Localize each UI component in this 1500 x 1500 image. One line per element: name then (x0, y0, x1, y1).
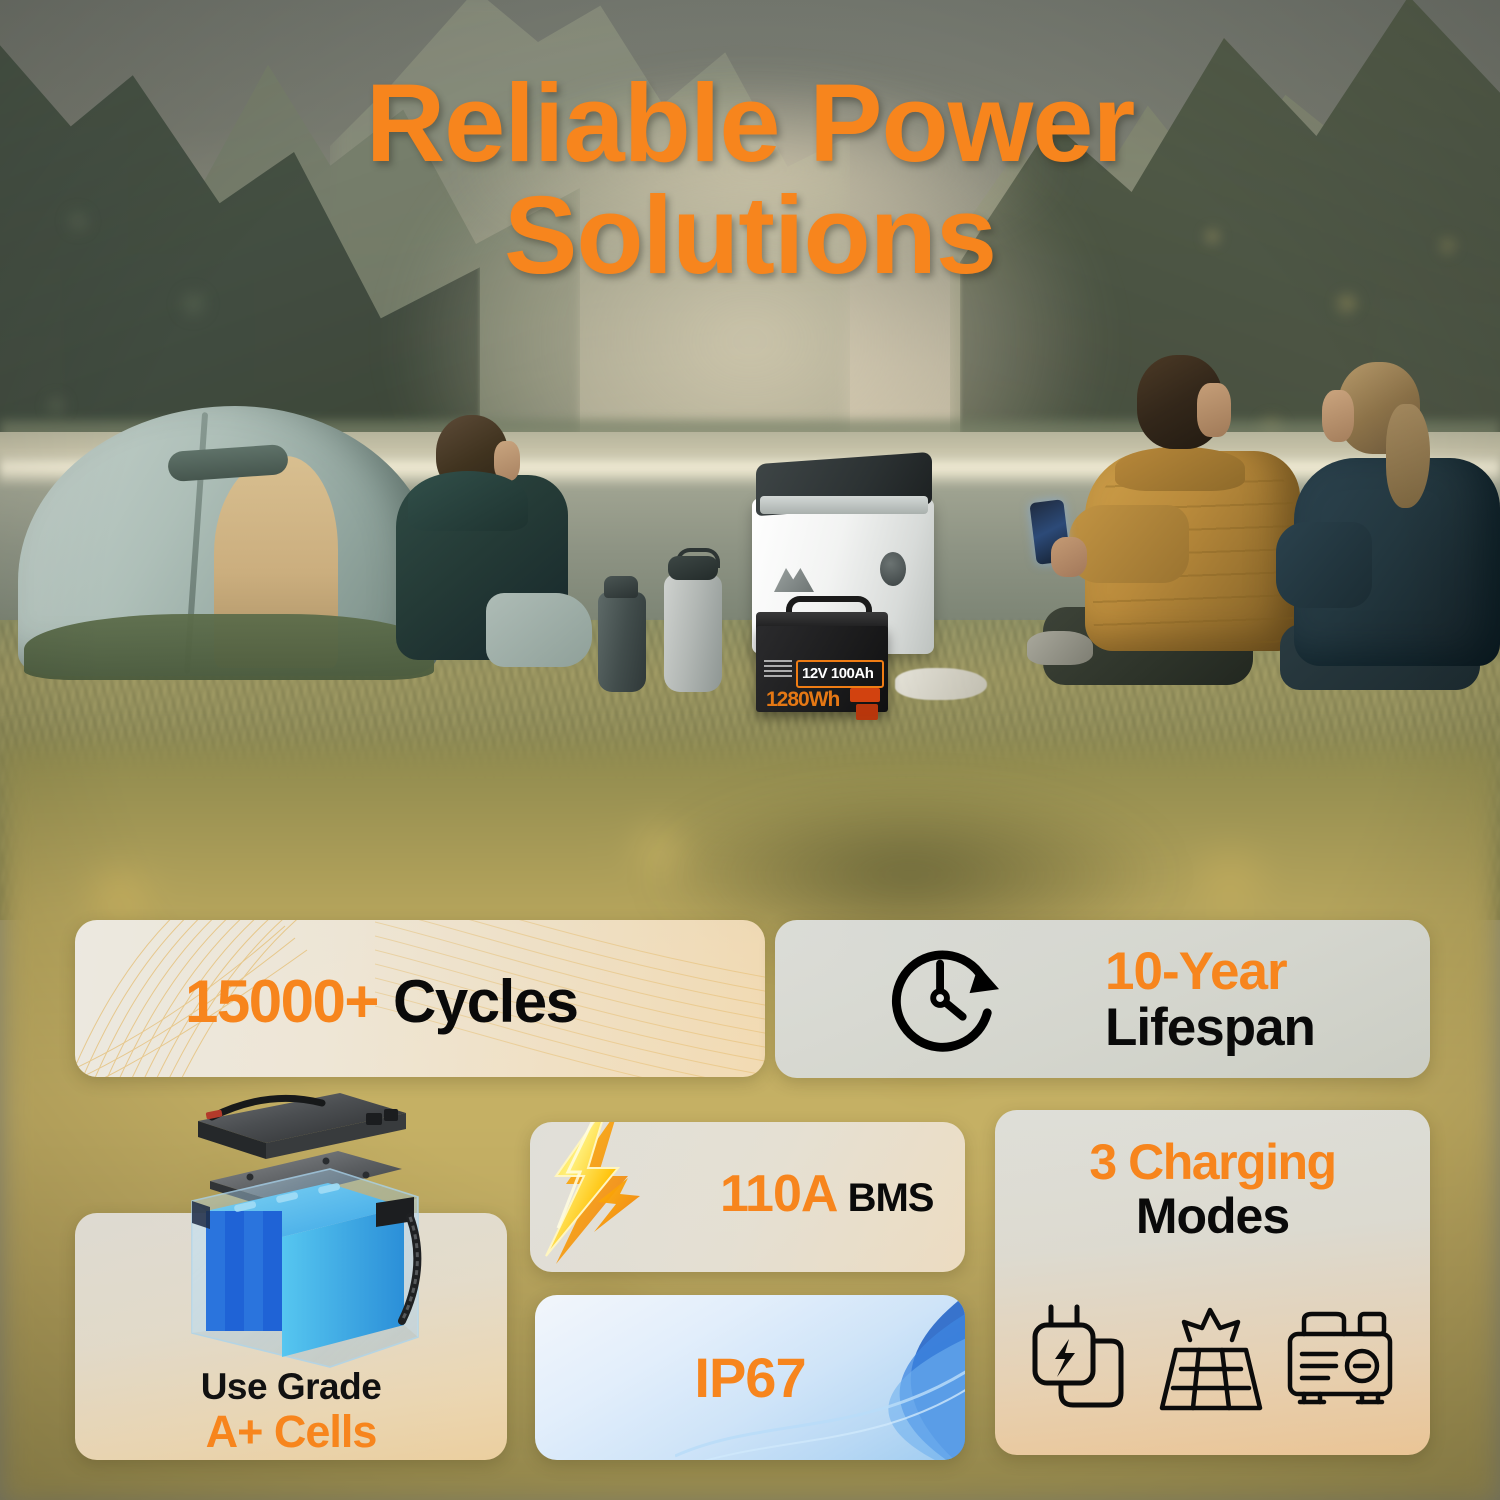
cells-label: Use Grade (75, 1366, 507, 1407)
title-line-2: Solutions (0, 180, 1500, 292)
feature-card-cycles[interactable]: 15000+ Cycles (75, 920, 765, 1077)
lifespan-label: Lifespan (1105, 1000, 1315, 1056)
product-infographic: 12V 100Ah 1280Wh (0, 0, 1500, 1500)
bms-text: 110A BMS (720, 1164, 933, 1224)
feature-card-lifespan[interactable]: 10-Year Lifespan (775, 920, 1430, 1078)
lifespan-value: 10-Year (1105, 944, 1315, 1000)
cycles-label: Cycles (378, 968, 578, 1035)
modes-value: 3 Charging (995, 1136, 1430, 1189)
lifespan-text: 10-Year Lifespan (1105, 944, 1315, 1055)
feature-card-bms[interactable]: 110A BMS (530, 1122, 965, 1272)
generator-icon (1282, 1306, 1400, 1416)
feature-card-ip67[interactable]: IP67 (535, 1295, 965, 1460)
cells-caption: Use Grade A+ Cells (75, 1366, 507, 1458)
bms-label: BMS (837, 1176, 933, 1220)
lightning-bolt-icon (530, 1122, 700, 1272)
modes-label: Modes (995, 1190, 1430, 1243)
bms-value: 110A (720, 1165, 837, 1223)
solar-panel-icon (1150, 1306, 1268, 1416)
ip67-value: IP67 (535, 1345, 965, 1410)
feature-card-charging-modes[interactable]: 3 Charging Modes (995, 1110, 1430, 1455)
battery-cells-exploded-view (170, 1085, 440, 1385)
clock-arrow-icon (885, 942, 1003, 1056)
cycles-value: 15000+ (185, 968, 378, 1035)
cells-value: A+ Cells (75, 1407, 507, 1457)
cycles-text: 15000+ Cycles (185, 967, 578, 1036)
charging-mode-icons (1025, 1296, 1400, 1426)
wall-plug-charger-icon (1025, 1301, 1135, 1421)
page-title: Reliable Power Solutions (0, 68, 1500, 292)
title-line-1: Reliable Power (366, 62, 1135, 185)
